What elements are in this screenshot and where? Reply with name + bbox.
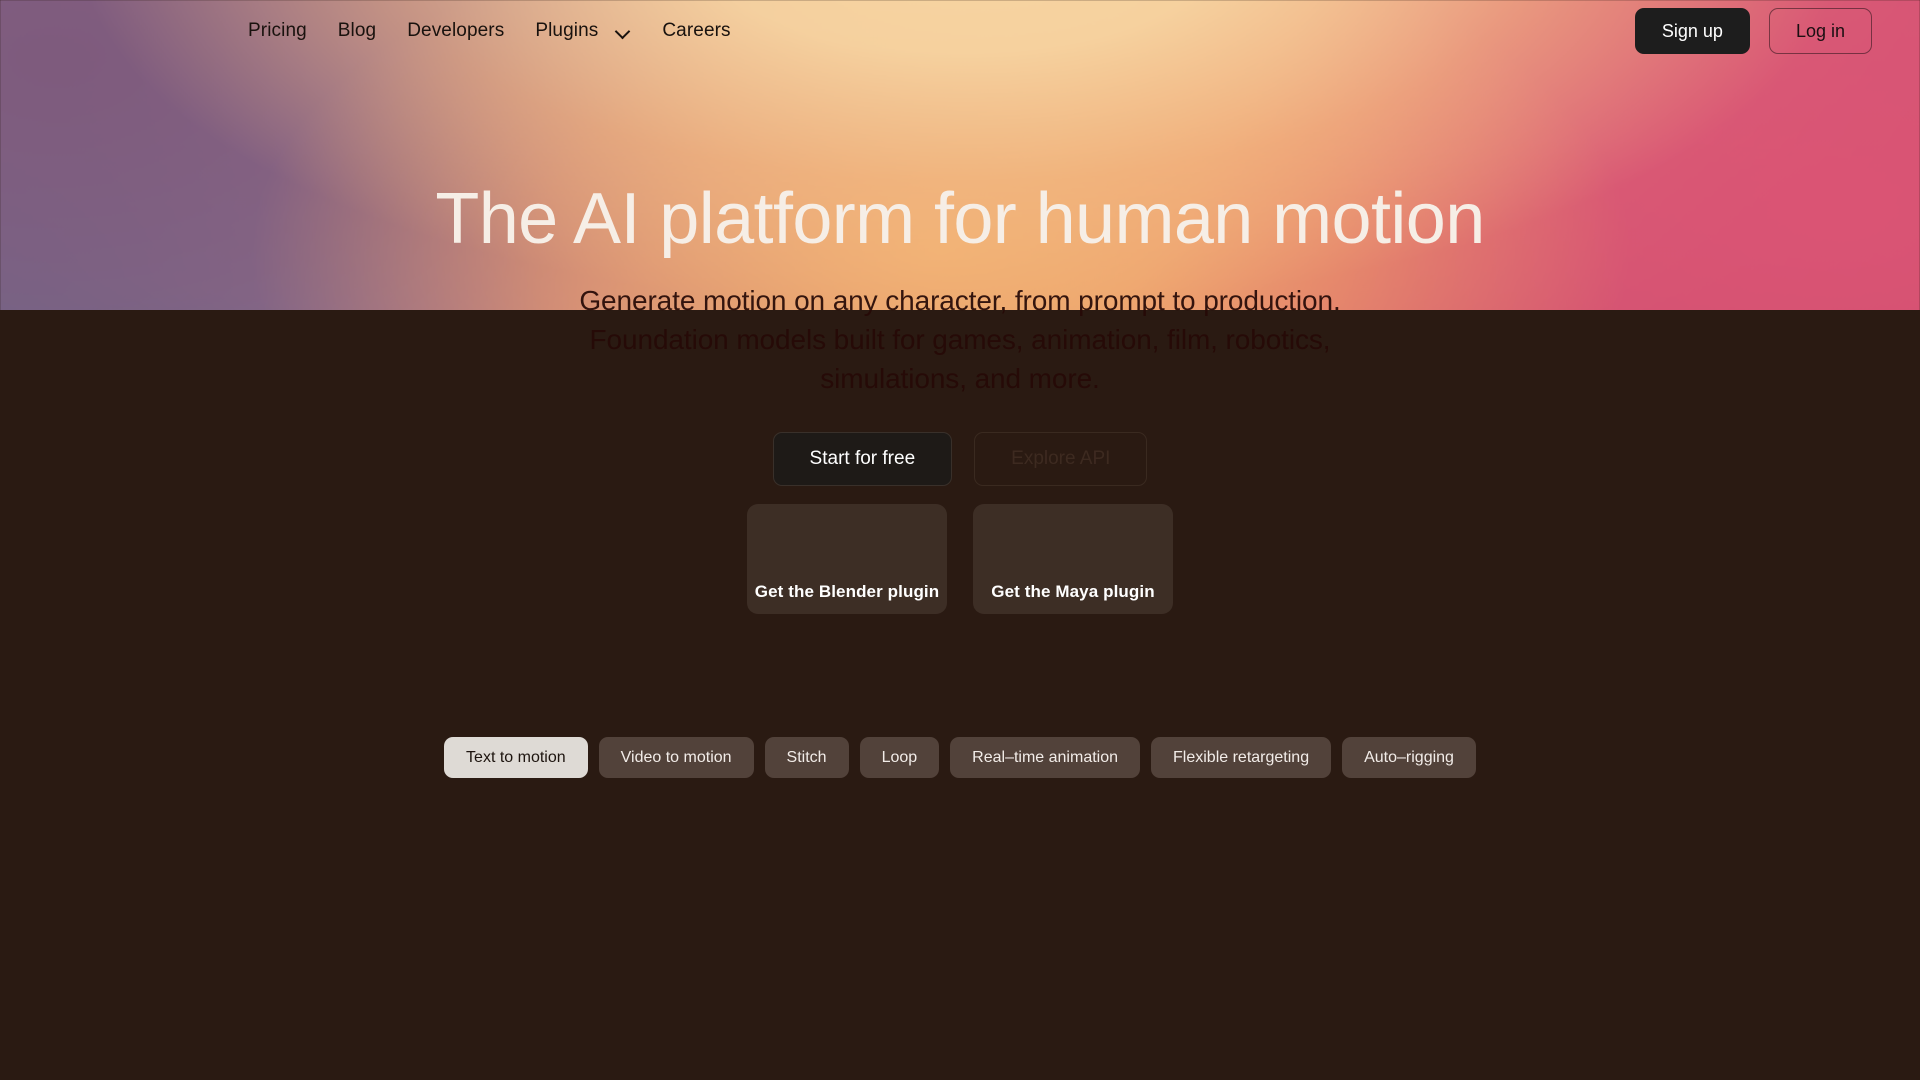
nav-link-blog[interactable]: Blog — [338, 20, 376, 42]
page-dark-background — [0, 310, 1920, 1080]
tab-stitch[interactable]: Stitch — [765, 737, 849, 778]
tab-real-time-animation[interactable]: Real–time animation — [950, 737, 1140, 778]
nav-dropdown-plugins-label: Plugins — [535, 20, 598, 42]
hero-subtitle: Generate motion on any character, from p… — [0, 281, 1920, 398]
plugin-card-row: Get the Blender plugin Get the Maya plug… — [0, 504, 1920, 614]
log-in-button[interactable]: Log in — [1769, 8, 1872, 55]
page-title: The AI platform for human motion — [0, 181, 1920, 259]
explore-api-button[interactable]: Explore API — [974, 432, 1147, 486]
nav-link-developers[interactable]: Developers — [407, 20, 504, 42]
tab-video-to-motion[interactable]: Video to motion — [599, 737, 754, 778]
feature-tab-row: Text to motion Video to motion Stitch Lo… — [0, 737, 1920, 778]
nav-actions-group: Sign up Log in — [1635, 8, 1872, 55]
hero-subtitle-line-2: Foundation models built for games, anima… — [0, 320, 1920, 359]
hero-subtitle-line-3: simulations, and more. — [0, 359, 1920, 398]
start-for-free-button[interactable]: Start for free — [773, 432, 953, 486]
tab-flexible-retargeting[interactable]: Flexible retargeting — [1151, 737, 1331, 778]
top-navbar: Pricing Blog Developers Plugins Careers … — [0, 0, 1920, 62]
chevron-down-icon — [616, 24, 631, 39]
blender-plugin-card[interactable]: Get the Blender plugin — [747, 504, 947, 614]
tab-loop[interactable]: Loop — [860, 737, 940, 778]
nav-links-group: Pricing Blog Developers Plugins Careers — [248, 20, 731, 42]
nav-link-careers[interactable]: Careers — [662, 20, 730, 42]
blender-plugin-card-label: Get the Blender plugin — [755, 582, 940, 602]
cta-button-row: Start for free Explore API — [0, 432, 1920, 486]
tab-text-to-motion[interactable]: Text to motion — [444, 737, 588, 778]
hero-subtitle-line-1: Generate motion on any character, from p… — [0, 281, 1920, 320]
nav-link-pricing[interactable]: Pricing — [248, 20, 307, 42]
sign-up-button[interactable]: Sign up — [1635, 8, 1750, 55]
tab-auto-rigging[interactable]: Auto–rigging — [1342, 737, 1476, 778]
maya-plugin-card-label: Get the Maya plugin — [991, 582, 1154, 602]
nav-dropdown-plugins[interactable]: Plugins — [535, 20, 631, 42]
maya-plugin-card[interactable]: Get the Maya plugin — [973, 504, 1173, 614]
